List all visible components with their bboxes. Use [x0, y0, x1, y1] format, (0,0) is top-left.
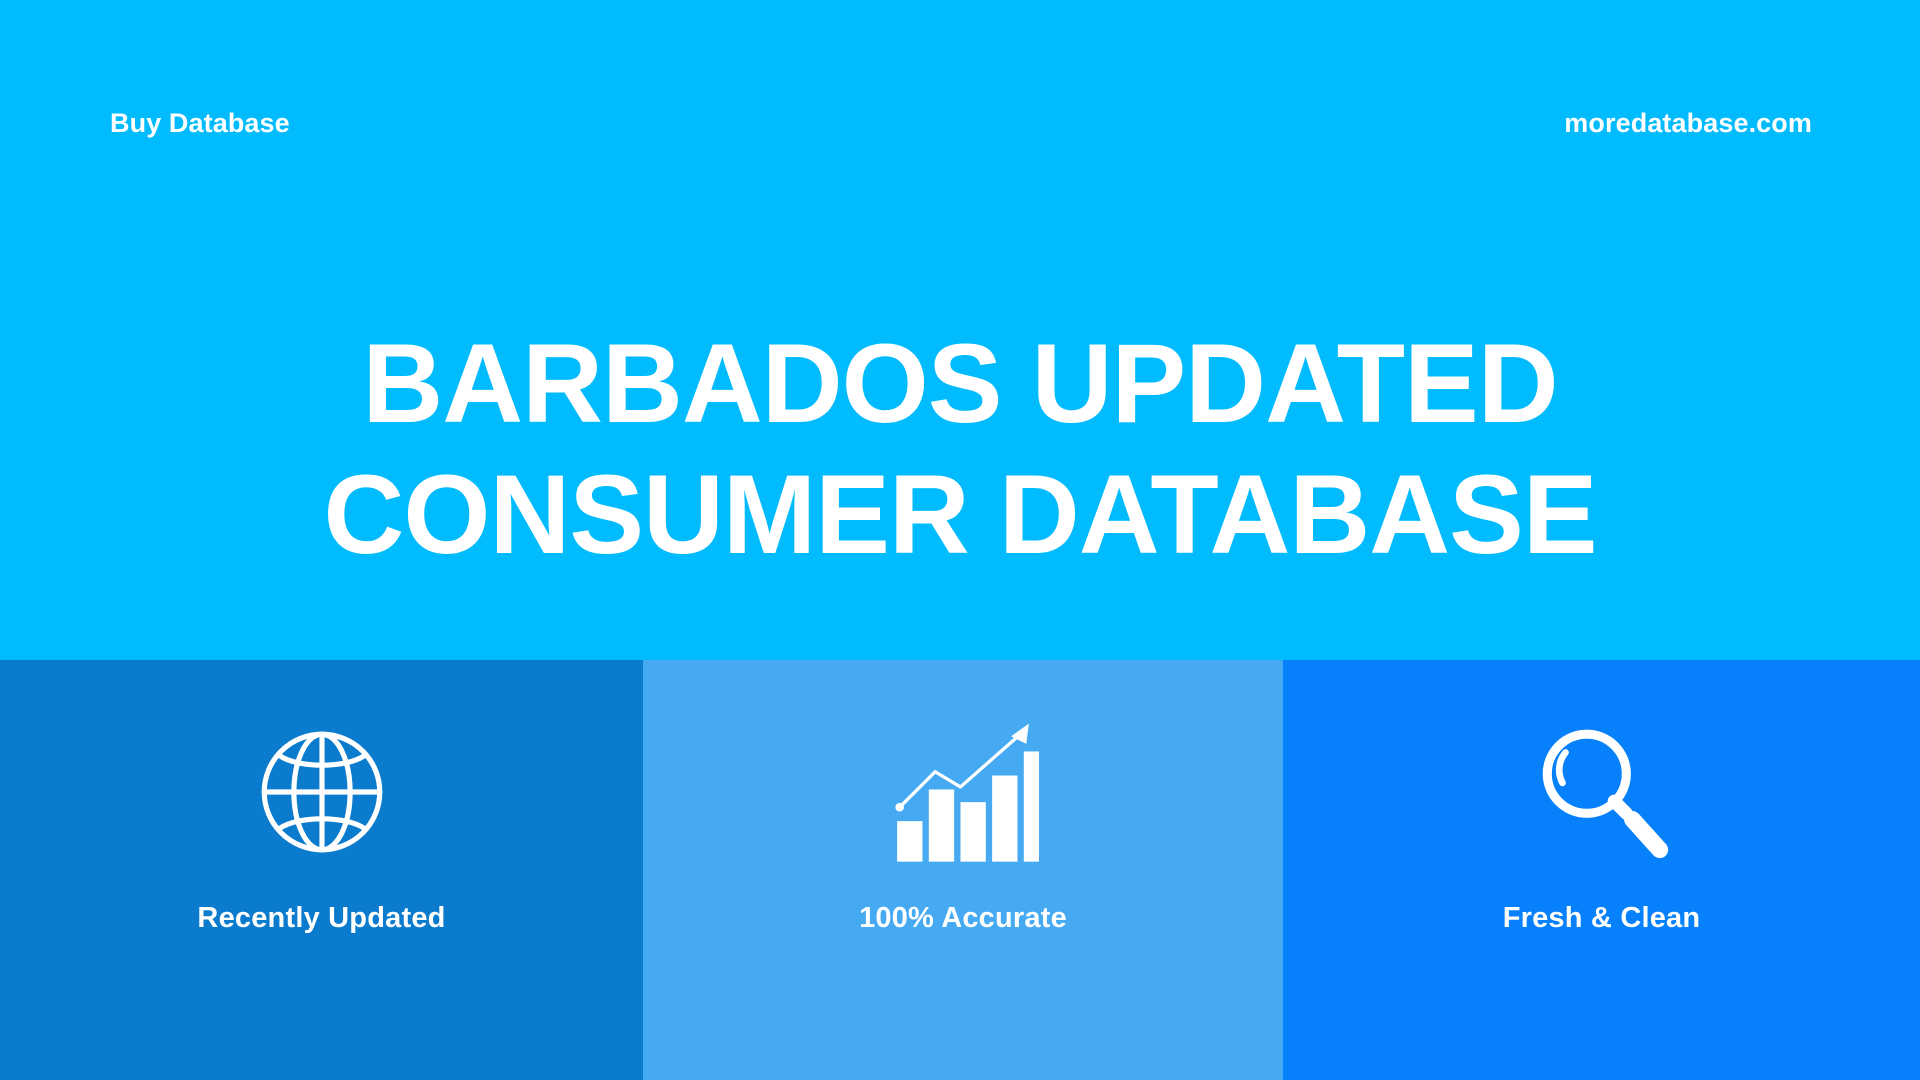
feature-label-fresh-clean: Fresh & Clean: [1503, 904, 1701, 933]
feature-panels: Recently Updated: [0, 660, 1920, 1080]
hero-section: Buy Database moredatabase.com BARBADOS U…: [0, 0, 1920, 660]
promo-banner: Buy Database moredatabase.com BARBADOS U…: [0, 0, 1920, 1080]
feature-label-accurate: 100% Accurate: [859, 904, 1067, 933]
page-title-line-2: CONSUMER DATABASE: [0, 449, 1920, 580]
feature-panel-accurate[interactable]: 100% Accurate: [643, 660, 1283, 1080]
page-title-line-1: BARBADOS UPDATED: [0, 318, 1920, 449]
feature-panel-fresh-clean[interactable]: Fresh & Clean: [1283, 660, 1920, 1080]
globe-icon: [246, 716, 398, 868]
site-url-link[interactable]: moredatabase.com: [1564, 110, 1812, 137]
feature-panel-recently-updated[interactable]: Recently Updated: [0, 660, 643, 1080]
brand-logo-text[interactable]: Buy Database: [110, 110, 290, 137]
magnifying-glass-icon: [1526, 716, 1678, 868]
bar-chart-growth-icon: [887, 716, 1039, 868]
page-title: BARBADOS UPDATED CONSUMER DATABASE: [0, 318, 1920, 580]
feature-label-recently-updated: Recently Updated: [197, 904, 445, 933]
